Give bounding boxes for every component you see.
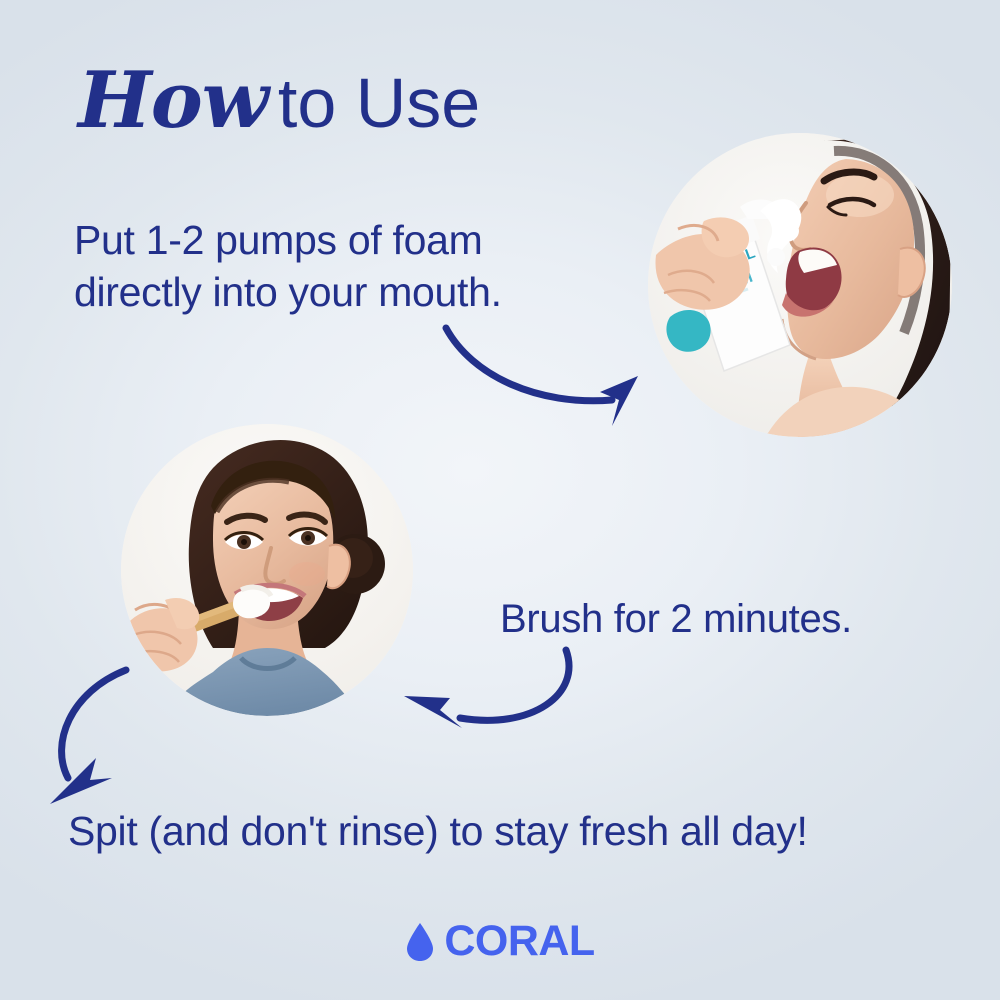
arrow-step-2 bbox=[382, 618, 607, 743]
arrow-step-1 bbox=[440, 318, 685, 433]
brand-logo-text: CORAL bbox=[444, 920, 594, 963]
arrow-1-curve bbox=[446, 328, 612, 401]
page-title-plain-words: to Use bbox=[278, 64, 480, 142]
photo-foam-dispensing: CORAL FOAM bbox=[648, 133, 952, 437]
arrow-step-3 bbox=[42, 648, 217, 823]
photo-foam-illustration: CORAL FOAM bbox=[648, 133, 952, 437]
page-title-script-word: How bbox=[78, 55, 268, 146]
page-title: Howto Use bbox=[78, 62, 480, 140]
water-drop-icon bbox=[405, 922, 435, 962]
step-1-instruction: Put 1-2 pumps of foam directly into your… bbox=[74, 214, 502, 319]
brand-logo: CORAL bbox=[0, 920, 1000, 963]
arrow-2-curve bbox=[460, 650, 569, 720]
arrow-2-head bbox=[404, 696, 462, 728]
how-to-use-poster: Howto Use Put 1-2 pumps of foam directly… bbox=[0, 0, 1000, 1000]
arrow-3-head bbox=[50, 758, 112, 804]
